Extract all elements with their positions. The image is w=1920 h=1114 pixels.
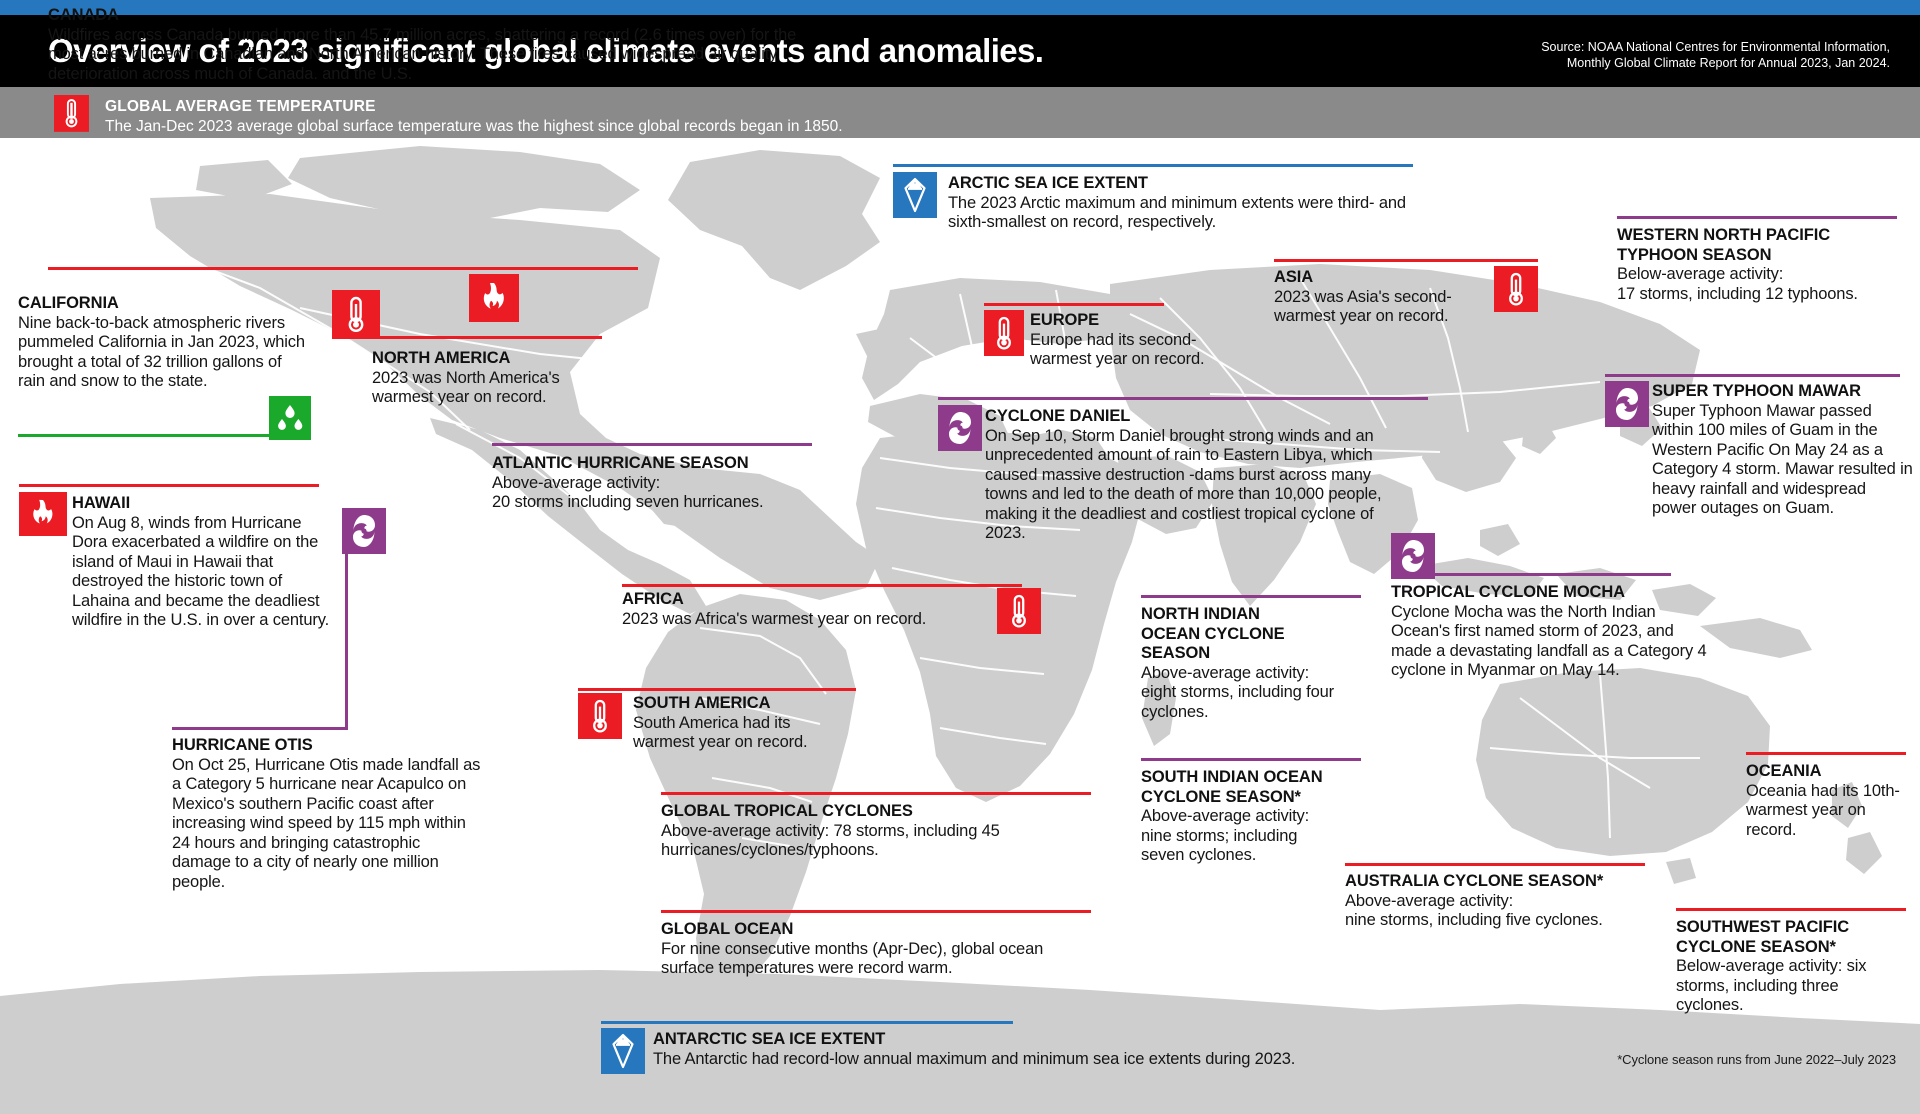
- block-title-line2: OCEAN CYCLONE: [1141, 625, 1371, 645]
- hurricane-otis-rule: [172, 727, 348, 730]
- block-title-line1: NORTH INDIAN: [1141, 605, 1371, 625]
- block-body: 2023 was Africa's warmest year on record…: [622, 610, 1002, 630]
- block-title: CALIFORNIA: [18, 294, 318, 314]
- block-title: HURRICANE OTIS: [172, 736, 492, 756]
- cyclone-icon: [938, 405, 982, 451]
- block-asia: ASIA 2023 was Asia's second-warmest year…: [1274, 268, 1504, 327]
- block-title: ATLANTIC HURRICANE SEASON: [492, 454, 852, 474]
- block-body: Super Typhoon Mawar passed within 100 mi…: [1652, 402, 1914, 519]
- block-oceania: OCEANIA Oceania had its 10th-warmest yea…: [1746, 758, 1916, 840]
- block-europe: EUROPE Europe had its second-warmest yea…: [1030, 311, 1280, 370]
- block-tropical-cyclone-mocha: TROPICAL CYCLONE MOCHA Cyclone Mocha was…: [1391, 579, 1721, 681]
- california-rule: [18, 434, 283, 437]
- block-south-indian-ocean-cyclone-season: SOUTH INDIAN OCEAN CYCLONE SEASON* Above…: [1141, 764, 1381, 866]
- block-title: ARCTIC SEA ICE EXTENT: [948, 174, 1448, 194]
- global-ocean-rule: [661, 910, 1091, 913]
- block-california: CALIFORNIA Nine back-to-back atmospheric…: [18, 290, 318, 392]
- cyclone-daniel-rule: [938, 397, 1428, 400]
- block-body: Below-average activity: six storms, incl…: [1676, 957, 1896, 1016]
- source-line-2: Monthly Global Climate Report for Annual…: [1420, 55, 1890, 71]
- otis-connector-vertical: [345, 552, 348, 729]
- block-title-line2: CYCLONE SEASON*: [1141, 788, 1381, 808]
- arctic-sea-ice-rule: [893, 164, 1413, 167]
- source-line-1: Source: NOAA National Centres for Enviro…: [1420, 39, 1890, 55]
- block-western-north-pacific-typhoon-season: WESTERN NORTH PACIFIC TYPHOON SEASON Bel…: [1617, 222, 1907, 304]
- block-title: CYCLONE DANIEL: [985, 407, 1405, 427]
- block-body: Europe had its second-warmest year on re…: [1030, 331, 1250, 370]
- block-southwest-pacific-cyclone-season: SOUTHWEST PACIFIC CYCLONE SEASON* Below-…: [1676, 914, 1916, 1016]
- block-body-line1: Above-average activity:: [1345, 892, 1665, 912]
- australia-cyclone-season-rule: [1345, 863, 1645, 866]
- block-title: SOUTH AMERICA: [633, 694, 873, 714]
- block-hawaii: HAWAII On Aug 8, winds from Hurricane Do…: [72, 494, 332, 631]
- north-indian-ocean-rule: [1141, 595, 1361, 598]
- raindrops-icon: [269, 396, 311, 440]
- block-body: 2023 was North America's warmest year on…: [372, 369, 622, 408]
- block-body: On Oct 25, Hurricane Otis made landfall …: [172, 756, 482, 893]
- western-north-pacific-rule: [1617, 216, 1897, 219]
- block-title-line2: TYPHOON SEASON: [1617, 246, 1907, 266]
- block-body: South America had its warmest year on re…: [633, 714, 843, 753]
- block-body-line1: Below-average activity:: [1617, 265, 1907, 285]
- block-global-tropical-cyclones: GLOBAL TROPICAL CYCLONES Above-average a…: [661, 798, 1081, 861]
- cyclone-icon: [1391, 533, 1435, 579]
- global-average-temperature-title: GLOBAL AVERAGE TEMPERATURE: [105, 98, 376, 116]
- block-canada: CANADA Wildfires across Canada burned mo…: [48, 2, 808, 84]
- block-africa: AFRICA 2023 was Africa's warmest year on…: [622, 590, 1022, 629]
- block-title: CANADA: [48, 6, 808, 26]
- asia-rule: [1274, 259, 1538, 262]
- block-hurricane-otis: HURRICANE OTIS On Oct 25, Hurricane Otis…: [172, 736, 492, 892]
- thermometer-icon: [54, 95, 89, 134]
- fire-icon: [469, 274, 519, 322]
- block-title: EUROPE: [1030, 311, 1280, 331]
- block-australia-cyclone-season: AUSTRALIA CYCLONE SEASON* Above-average …: [1345, 868, 1665, 931]
- fire-icon: [19, 492, 67, 536]
- block-north-america: NORTH AMERICA 2023 was North America's w…: [372, 345, 652, 408]
- block-body: The 2023 Arctic maximum and minimum exte…: [948, 194, 1438, 233]
- block-title: AUSTRALIA CYCLONE SEASON*: [1345, 872, 1665, 892]
- block-body-line1: Above-average activity:: [492, 474, 852, 494]
- block-title: SUPER TYPHOON MAWAR: [1652, 382, 1912, 402]
- antarctic-sea-ice-rule: [601, 1021, 1013, 1024]
- southwest-pacific-rule: [1676, 908, 1906, 911]
- thermometer-icon: [984, 310, 1024, 356]
- block-cyclone-daniel: CYCLONE DANIEL On Sep 10, Storm Daniel b…: [985, 407, 1405, 544]
- block-title: ASIA: [1274, 268, 1504, 288]
- block-body: Above-average activity: eight storms, in…: [1141, 664, 1341, 723]
- block-atlantic-hurricane-season: ATLANTIC HURRICANE SEASON Above-average …: [492, 450, 852, 513]
- iceberg-icon: [601, 1028, 645, 1074]
- block-body-line2: 20 storms including seven hurricanes.: [492, 493, 852, 513]
- source-note: Source: NOAA National Centres for Enviro…: [1420, 39, 1890, 71]
- block-title: HAWAII: [72, 494, 332, 514]
- block-super-typhoon-mawar: SUPER TYPHOON MAWAR Super Typhoon Mawar …: [1652, 382, 1912, 519]
- cyclone-icon: [342, 508, 386, 554]
- block-title: GLOBAL OCEAN: [661, 920, 1091, 940]
- block-title-line2: CYCLONE SEASON*: [1676, 938, 1916, 958]
- atlantic-hurricane-rule: [492, 443, 812, 446]
- canada-rule: [48, 267, 638, 270]
- block-body: On Aug 8, winds from Hurricane Dora exac…: [72, 514, 330, 631]
- block-title: ANTARCTIC SEA ICE EXTENT: [653, 1030, 1473, 1050]
- block-body: Above-average activity: 78 storms, inclu…: [661, 822, 1061, 861]
- iceberg-icon: [893, 172, 937, 218]
- block-title-line1: SOUTH INDIAN OCEAN: [1141, 768, 1381, 788]
- south-america-rule: [578, 688, 856, 691]
- block-title: GLOBAL TROPICAL CYCLONES: [661, 802, 1081, 822]
- block-antarctic-sea-ice-extent: ANTARCTIC SEA ICE EXTENT The Antarctic h…: [653, 1030, 1473, 1069]
- block-title: AFRICA: [622, 590, 1022, 610]
- block-south-america: SOUTH AMERICA South America had its warm…: [633, 694, 873, 753]
- block-title: NORTH AMERICA: [372, 349, 652, 369]
- global-average-temperature-body: The Jan-Dec 2023 average global surface …: [105, 118, 843, 136]
- block-global-ocean: GLOBAL OCEAN For nine consecutive months…: [661, 916, 1091, 979]
- block-body-line2: 17 storms, including 12 typhoons.: [1617, 285, 1907, 305]
- block-arctic-sea-ice-extent: ARCTIC SEA ICE EXTENT The 2023 Arctic ma…: [948, 174, 1448, 233]
- africa-rule: [622, 584, 1022, 587]
- europe-rule: [984, 303, 1164, 306]
- thermometer-icon: [332, 290, 380, 338]
- block-body: For nine consecutive months (Apr-Dec), g…: [661, 940, 1081, 979]
- footnote: *Cyclone season runs from June 2022–July…: [1617, 1052, 1896, 1067]
- block-body: Wildfires across Canada burned more than…: [48, 26, 808, 85]
- block-title-line3: SEASON: [1141, 644, 1371, 664]
- super-typhoon-mawar-rule: [1605, 374, 1900, 377]
- block-body-line2: nine storms, including five cyclones.: [1345, 911, 1665, 931]
- block-body: Nine back-to-back atmospheric rivers pum…: [18, 314, 308, 392]
- block-body: 2023 was Asia's second-warmest year on r…: [1274, 288, 1484, 327]
- block-title: OCEANIA: [1746, 762, 1916, 782]
- block-body: Above-average activity: nine storms; inc…: [1141, 807, 1341, 866]
- block-body: The Antarctic had record-low annual maxi…: [653, 1050, 1473, 1070]
- global-tropical-cyclones-rule: [661, 792, 1091, 795]
- north-america-rule: [332, 336, 602, 339]
- block-north-indian-ocean-cyclone-season: NORTH INDIAN OCEAN CYCLONE SEASON Above-…: [1141, 601, 1371, 722]
- thermometer-icon: [578, 693, 622, 739]
- south-indian-ocean-rule: [1141, 758, 1361, 761]
- block-body: Oceania had its 10th-warmest year on rec…: [1746, 782, 1906, 841]
- block-title-line1: WESTERN NORTH PACIFIC: [1617, 226, 1907, 246]
- block-title-line1: SOUTHWEST PACIFIC: [1676, 918, 1916, 938]
- block-body: Cyclone Mocha was the North Indian Ocean…: [1391, 603, 1711, 681]
- hawaii-rule: [19, 484, 319, 487]
- block-title: TROPICAL CYCLONE MOCHA: [1391, 583, 1721, 603]
- block-body: On Sep 10, Storm Daniel brought strong w…: [985, 427, 1395, 544]
- cyclone-icon: [1605, 381, 1649, 427]
- oceania-rule: [1746, 752, 1906, 755]
